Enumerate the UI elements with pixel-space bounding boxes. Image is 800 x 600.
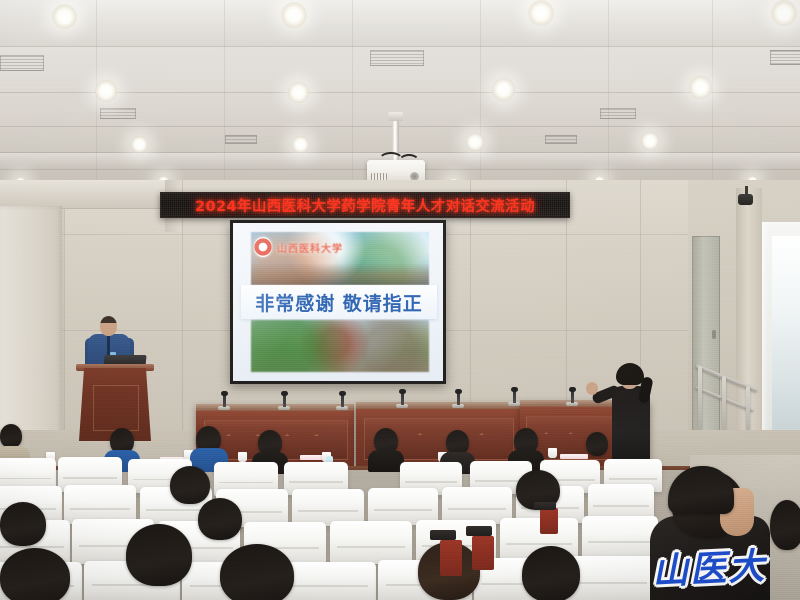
ceiling-vent xyxy=(100,108,136,119)
ceiling-downlight xyxy=(131,136,148,153)
ceiling-vent xyxy=(770,50,800,65)
attendee-hand xyxy=(586,382,598,395)
desk-microphone xyxy=(457,392,460,405)
desk-microphone xyxy=(513,390,516,403)
ceiling-downlight xyxy=(95,80,117,102)
audience-head xyxy=(522,546,580,600)
ceiling-vent xyxy=(600,108,636,119)
ceiling-downlight xyxy=(292,136,309,153)
university-name-text: 山西医科大学 xyxy=(277,240,343,255)
audience-chair xyxy=(582,516,658,559)
presenter-head xyxy=(100,316,117,336)
audience-torso xyxy=(368,450,404,472)
ceiling-downlight xyxy=(528,0,554,26)
door-handle-icon[interactable] xyxy=(712,330,716,339)
seat-armrest xyxy=(466,526,492,536)
podium-front-panel xyxy=(93,385,139,431)
seat-armrest xyxy=(534,502,556,510)
ceiling-downlight xyxy=(641,132,659,150)
desk-paper xyxy=(560,454,588,459)
projection-screen: 山西医科大学 非常感谢 敬请指正 xyxy=(230,220,446,384)
seat-armrest xyxy=(430,530,456,540)
audience-head xyxy=(170,466,210,504)
projector-cable xyxy=(398,154,420,170)
event-banner: 2024年山西医科大学药学院青年人才对话交流活动 xyxy=(160,192,570,218)
ceiling-downlight xyxy=(288,82,309,103)
desk-microphone xyxy=(571,390,574,403)
audience-chair xyxy=(330,521,412,564)
desk-microphone xyxy=(283,394,286,407)
ceiling-downlight xyxy=(466,133,484,151)
audience-head xyxy=(126,524,192,586)
theater-seat xyxy=(472,536,494,570)
ceiling-downlight xyxy=(281,2,307,28)
slide-title-text: 非常感谢 敬请指正 xyxy=(255,289,423,316)
audience-head xyxy=(0,548,70,600)
ceiling-vent xyxy=(0,55,44,71)
ceiling-vent xyxy=(370,50,424,66)
attendee-hair xyxy=(616,363,644,385)
desk-microphone xyxy=(341,394,344,407)
ceiling-vent xyxy=(225,135,257,144)
audience-chair xyxy=(280,562,376,600)
desk-microphone xyxy=(401,392,404,405)
security-camera-icon xyxy=(738,194,753,205)
audience-head xyxy=(770,500,800,550)
ceiling-downlight xyxy=(492,78,515,101)
audience-head xyxy=(0,502,46,546)
ceiling-vent xyxy=(545,135,577,144)
slide-surface: 山西医科大学 非常感谢 敬请指正 xyxy=(233,223,443,381)
theater-seat xyxy=(540,508,558,534)
theater-seat xyxy=(440,540,462,576)
ceiling-soffit xyxy=(0,180,170,209)
audience-head xyxy=(198,498,242,540)
lecture-hall-photo: 2024年山西医科大学药学院青年人才对话交流活动 山西医科大学 非常感谢 敬请指… xyxy=(0,0,800,600)
exit-window-light xyxy=(772,236,800,436)
audience-head xyxy=(0,424,22,448)
desk-microphone xyxy=(223,394,226,407)
audience-head xyxy=(586,432,608,456)
university-emblem-icon xyxy=(254,237,272,257)
ceiling-downlight xyxy=(52,4,77,29)
audience-head xyxy=(220,544,294,600)
ceiling-downlight xyxy=(771,0,797,26)
paper-cup xyxy=(238,452,247,462)
paper-cup xyxy=(548,448,557,458)
slide-photo-bottom xyxy=(251,320,429,372)
event-banner-text: 2024年山西医科大学药学院青年人才对话交流活动 xyxy=(195,195,535,216)
ceiling-downlight xyxy=(689,76,712,99)
slide-title-band: 非常感谢 敬请指正 xyxy=(241,285,437,319)
ceiling xyxy=(0,0,800,186)
projector-vent xyxy=(371,173,387,180)
